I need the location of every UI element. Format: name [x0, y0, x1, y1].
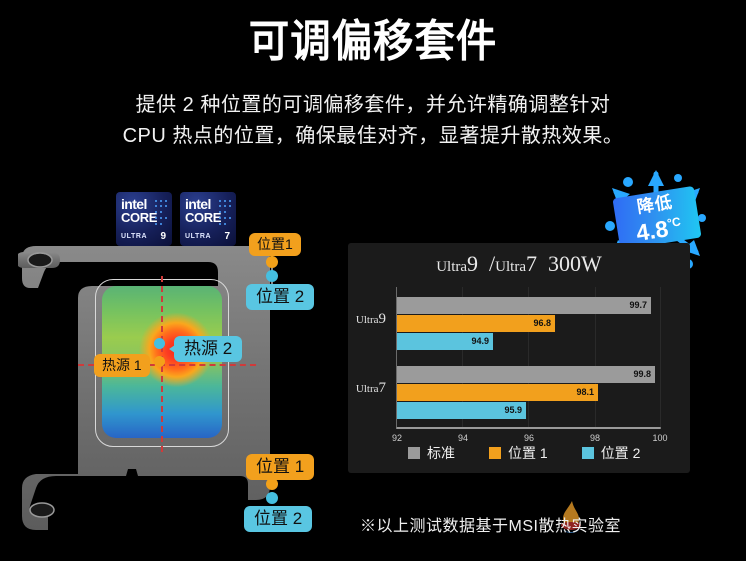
badge-unit: °C: [666, 214, 681, 230]
mount-dot-top-pos1: [266, 256, 278, 268]
x-tick-100: 100: [652, 433, 667, 443]
legend-item-position2: 位置 2: [582, 443, 641, 463]
mount-dot-bottom-pos2: [266, 492, 278, 504]
legend-label-standard: 标准: [427, 443, 455, 463]
legend-swatch-position1: [489, 447, 501, 459]
bar-ultra7-standard: 99.8: [397, 366, 655, 383]
core-wordmark: CORE: [185, 211, 221, 224]
subtitle-line-1: 提供 2 种位置的可调偏移套件，并允许精确调整针对: [50, 90, 696, 121]
callout-heat-source-1: 热源 1: [94, 354, 150, 377]
callout-top-position-1: 位置1: [249, 233, 301, 256]
x-tick-92: 92: [392, 433, 402, 443]
legend-item-position1: 位置 1: [489, 443, 548, 463]
dot-grid-icon: [153, 200, 169, 234]
chart-legend: 标准 位置 1 位置 2: [408, 443, 640, 463]
core-wordmark: CORE: [121, 211, 157, 224]
bar-ultra9-position1: 96.8: [397, 315, 555, 332]
legend-swatch-standard: [408, 447, 420, 459]
hotspot-dot-pos1: [154, 356, 165, 367]
x-axis-line: [396, 427, 661, 429]
subtitle-line-2: CPU 热点的位置，确保最佳对齐，显著提升散热效果。: [50, 121, 696, 152]
callout-bottom-position-2: 位置 2: [244, 506, 312, 532]
dot-grid-icon: [217, 200, 233, 234]
badge-number: 4.8: [634, 215, 670, 246]
page-title: 可调偏移套件: [30, 18, 716, 66]
hotspot-dot-pos2: [154, 338, 165, 349]
chart-plot-area: Ultra9 99.7 96.8 94.9 Ultra7 99.8 98.1 9…: [396, 287, 661, 427]
x-tick-98: 98: [590, 433, 600, 443]
bar-ultra9-standard: 99.7: [397, 297, 651, 314]
chart-title: Ultra9 /Ultra7 300W: [348, 251, 690, 280]
legend-label-position2: 位置 2: [601, 443, 641, 463]
footnote-text: ※以上测试数据基于MSI散热实验室: [360, 512, 621, 536]
legend-label-position1: 位置 1: [508, 443, 548, 463]
benchmark-chart-panel: Ultra9 /Ultra7 300W Ultra9 99.7 96.8 94.…: [348, 243, 690, 473]
promo-slide: 可调偏移套件 提供 2 种位置的可调偏移套件，并允许精确调整针对 CPU 热点的…: [0, 0, 746, 561]
category-label-ultra7: Ultra7: [356, 380, 386, 397]
mount-dot-top-pos2: [266, 270, 278, 282]
offset-bracket-diagram: 热源 2 热源 1 位置1 位置 2 位置 1 位置 2: [18, 238, 328, 533]
bar-ultra9-position2: 94.9: [397, 333, 493, 350]
x-tick-94: 94: [458, 433, 468, 443]
callout-bottom-position-1: 位置 1: [246, 454, 314, 480]
x-tick-96: 96: [524, 433, 534, 443]
category-label-ultra9: Ultra9: [356, 311, 386, 328]
page-subtitle: 提供 2 种位置的可调偏移套件，并允许精确调整针对 CPU 热点的位置，确保最佳…: [50, 90, 696, 152]
bar-ultra7-position2: 95.9: [397, 402, 526, 419]
callout-heat-source-2: 热源 2: [174, 336, 242, 362]
legend-swatch-position2: [582, 447, 594, 459]
legend-item-standard: 标准: [408, 443, 455, 463]
callout-top-position-2: 位置 2: [246, 284, 314, 310]
bar-ultra7-position1: 98.1: [397, 384, 598, 401]
